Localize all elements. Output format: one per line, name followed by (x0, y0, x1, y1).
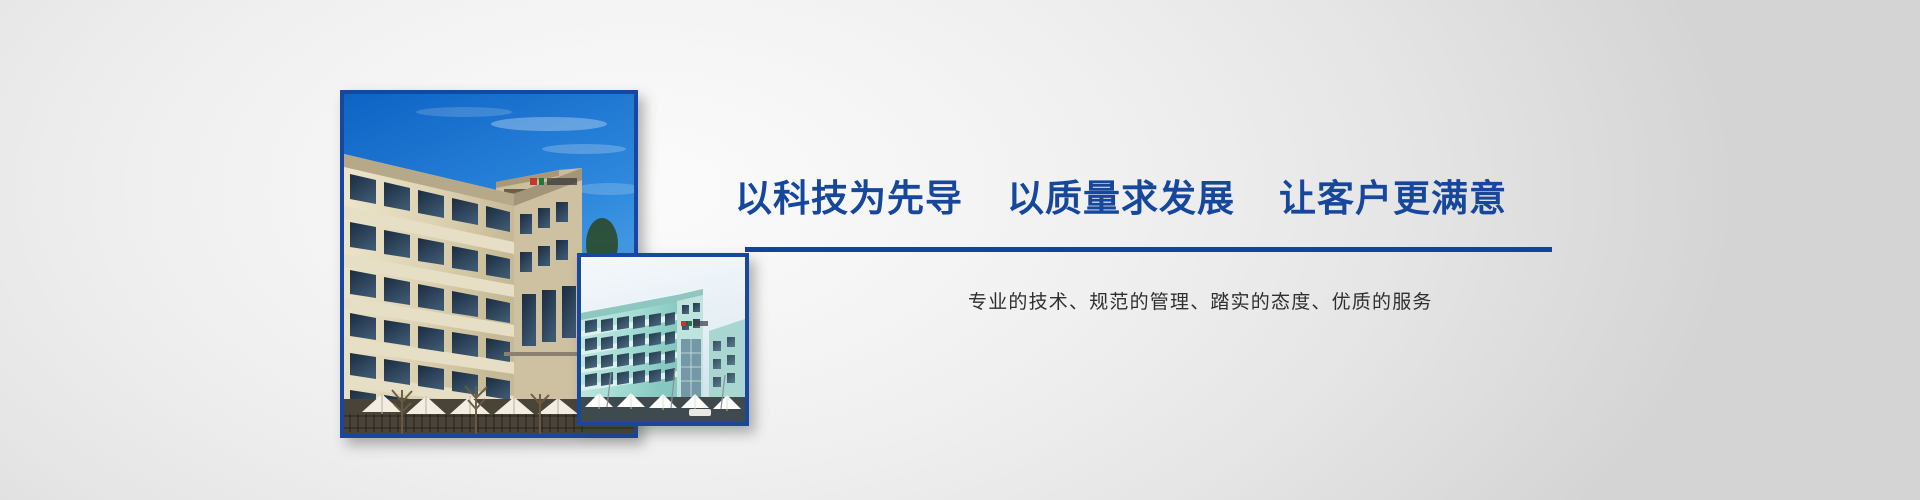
headline-segment-2: 以质量求发展 (1007, 176, 1235, 222)
secondary-building-illustration (581, 257, 745, 422)
headline-segment-1: 以科技为先导 (735, 176, 963, 222)
divider (745, 247, 1552, 252)
secondary-building-photo (577, 253, 749, 426)
page-title: 以科技为先导以质量求发展让客户更满意 (735, 176, 1507, 222)
page-subtitle: 专业的技术、规范的管理、踏实的态度、优质的服务 (968, 288, 1433, 316)
promo-banner: 以科技为先导以质量求发展让客户更满意 专业的技术、规范的管理、踏实的态度、优质的… (0, 0, 1920, 500)
headline-segment-3: 让客户更满意 (1279, 176, 1507, 222)
